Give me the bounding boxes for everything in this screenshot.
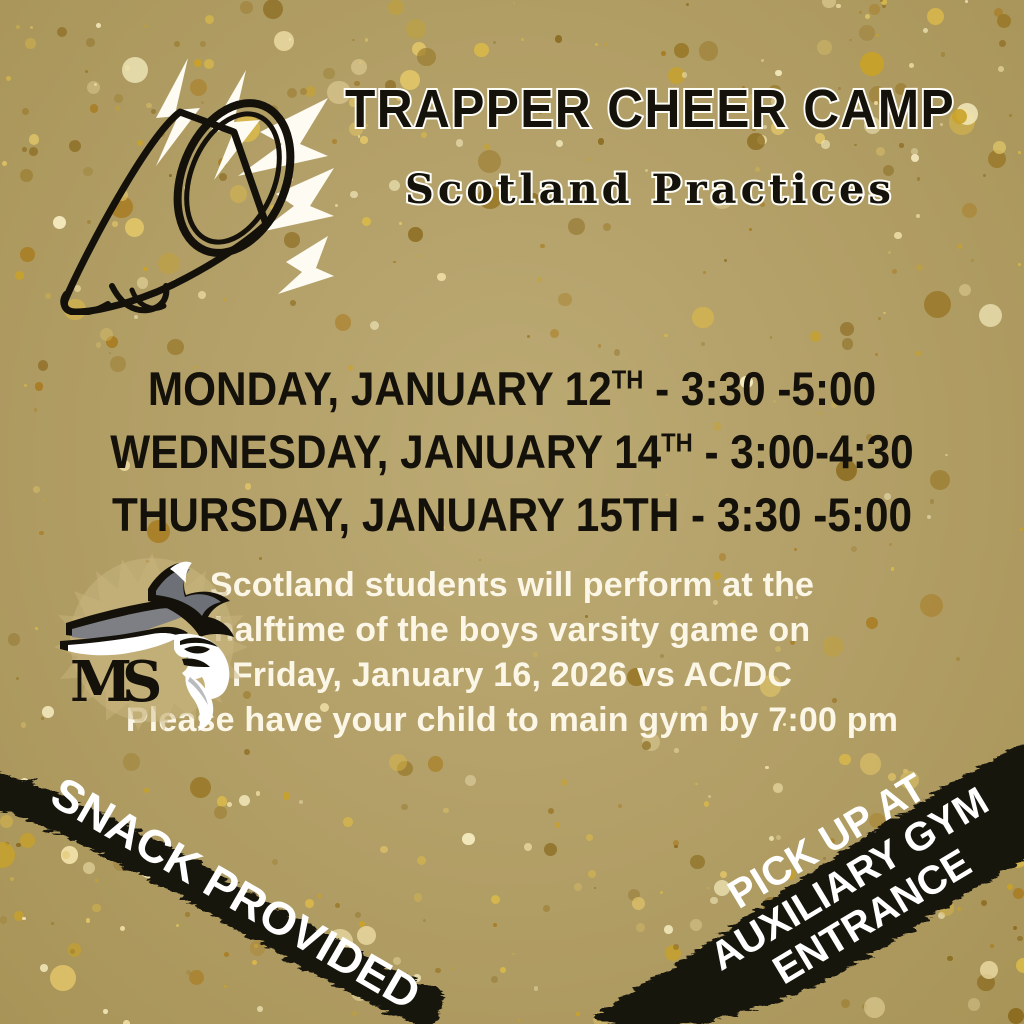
page-subtitle: Scotland Practices — [300, 170, 1000, 210]
ordinal-suffix: TH — [612, 364, 644, 394]
practice-schedule-list: MONDAY, JANUARY 12TH - 3:30 -5:00WEDNESD… — [0, 358, 1024, 547]
page-title: TRAPPER CHEER CAMP — [328, 82, 972, 136]
title-block: TRAPPER CHEER CAMP Scotland Practices — [300, 82, 1000, 210]
schedule-line: THURSDAY, JANUARY 15TH - 3:30 -5:00 — [51, 484, 973, 547]
ordinal-suffix: TH — [661, 427, 693, 457]
trapper-mascot-icon: MS — [52, 545, 267, 745]
schedule-line: MONDAY, JANUARY 12TH - 3:30 -5:00 — [51, 358, 973, 421]
schedule-line: WEDNESDAY, JANUARY 14TH - 3:00-4:30 — [51, 421, 973, 484]
monogram-text: MS — [70, 649, 160, 715]
cheer-camp-flyer: TRAPPER CHEER CAMP Scotland Practices MO… — [0, 0, 1024, 1024]
megaphone-icon — [28, 40, 338, 315]
